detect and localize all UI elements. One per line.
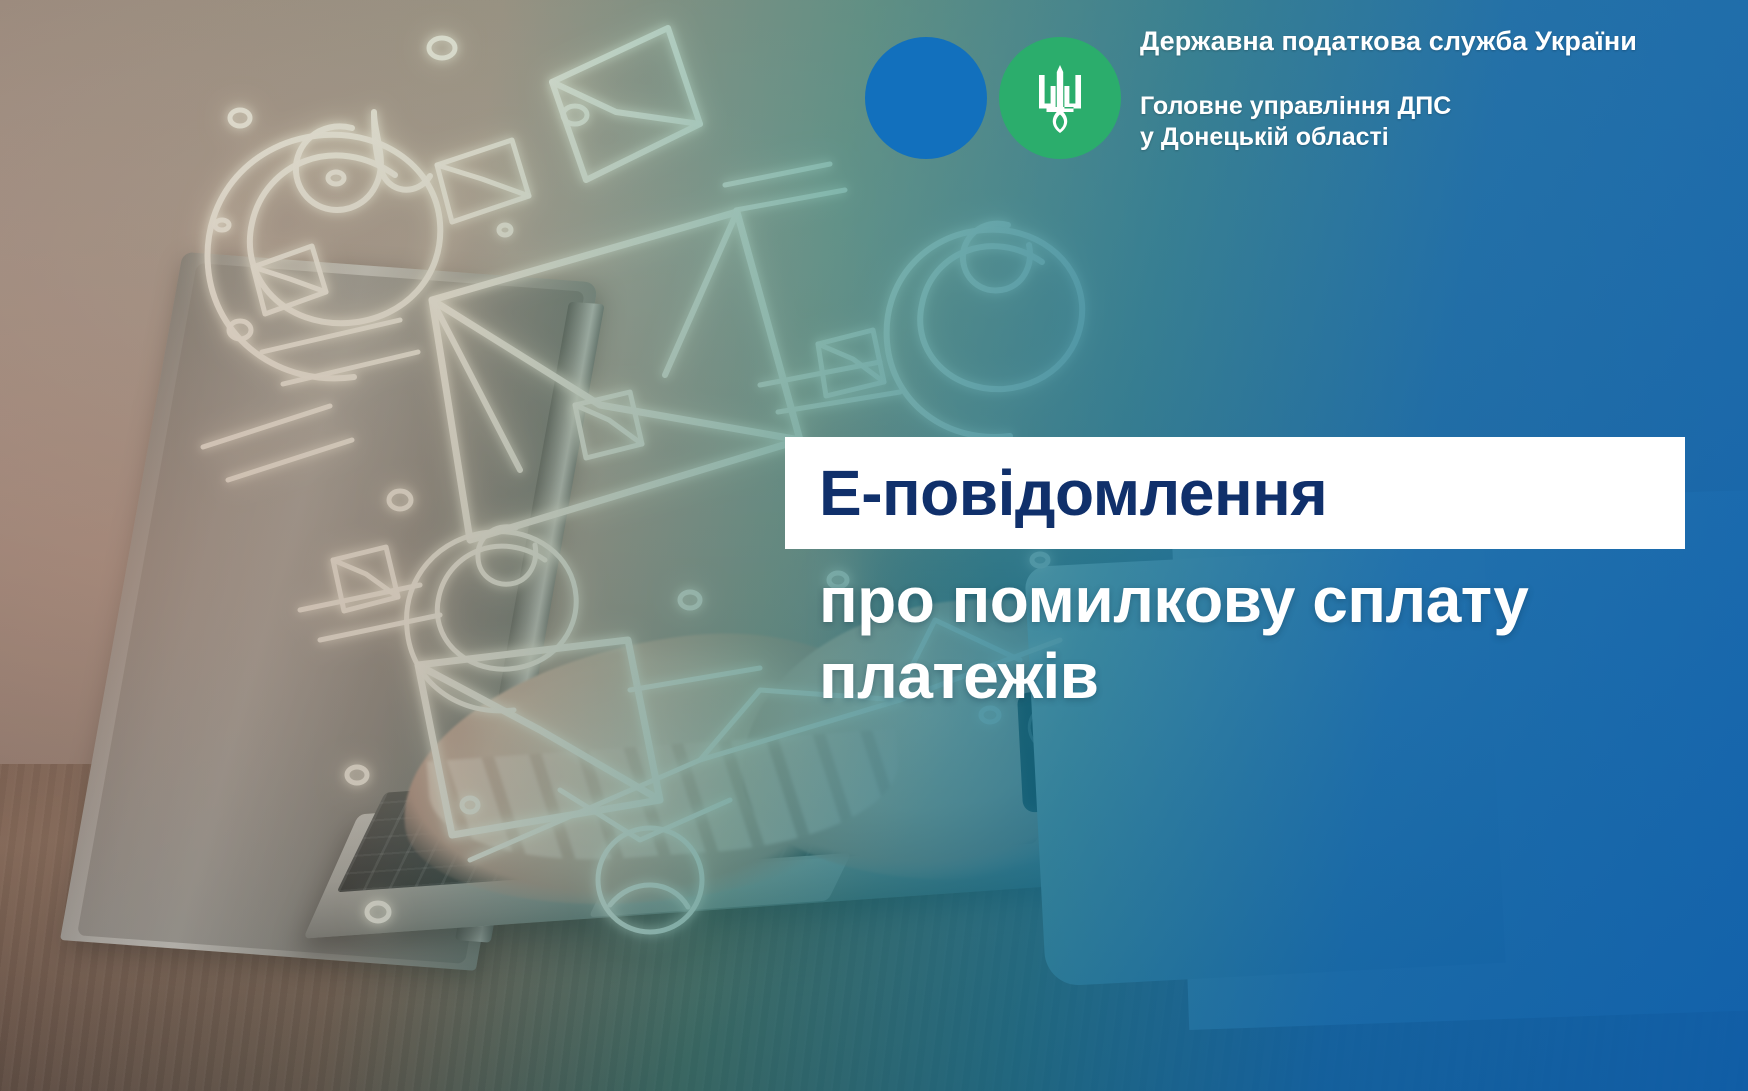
organization-department-line1: Головне управління ДПС	[1140, 91, 1637, 122]
ukraine-trident-icon	[1034, 63, 1086, 133]
blue-circle-mark	[865, 37, 987, 159]
organization-block: Державна податкова служба України Головн…	[1140, 26, 1637, 152]
promo-banner: Державна податкова служба України Головн…	[0, 0, 1748, 1091]
headline-line-1: Е-повідомлення	[819, 461, 1327, 525]
headline-line-2: про помилкову сплату	[785, 563, 1745, 637]
headline-line-3: платежів	[785, 639, 1745, 713]
organization-department-line2: у Донецькій області	[1140, 122, 1637, 153]
organization-name: Державна податкова служба України	[1140, 26, 1637, 57]
header: Державна податкова служба України Головн…	[0, 0, 1748, 180]
organization-department: Головне управління ДПС у Донецькій облас…	[1140, 91, 1637, 152]
headline-block: Е-повідомлення про помилкову сплату плат…	[785, 437, 1745, 713]
logo	[865, 37, 1121, 159]
headline-highlight-box: Е-повідомлення	[785, 437, 1685, 549]
green-circle-mark	[999, 37, 1121, 159]
